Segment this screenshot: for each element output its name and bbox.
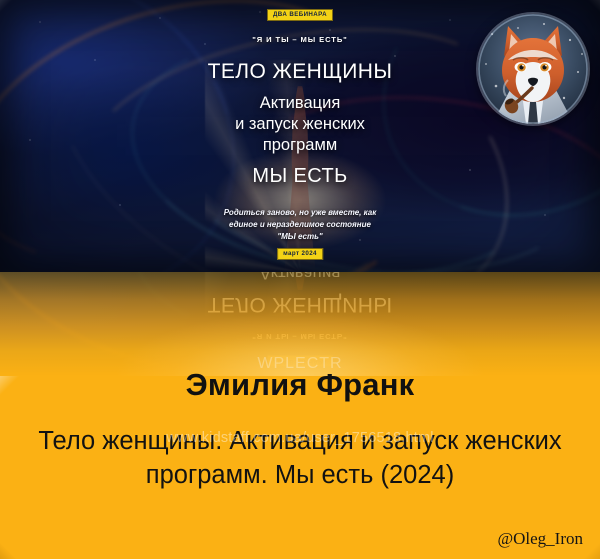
banner-kicker: "Я И ТЫ – МЫ ЕСТЬ" bbox=[252, 35, 347, 44]
banner-title-we-are: МЫ ЕСТЬ bbox=[252, 165, 347, 188]
author-name: Эмилия Франк bbox=[0, 367, 600, 403]
banner-tagline-line-1: Родиться заново, но уже вместе, как bbox=[224, 207, 377, 219]
banner-subtitle-line-1: Активация bbox=[235, 93, 365, 114]
banner-subtitle-line-2: и запуск женских bbox=[235, 114, 365, 135]
avatar bbox=[478, 14, 588, 124]
reflection-glow bbox=[0, 272, 600, 376]
badge-two-webinars: ДВА ВЕБИНАРА bbox=[267, 9, 333, 21]
book-title: Тело женщины. Активация и запуск женских… bbox=[22, 425, 578, 493]
banner-subtitle: Активация и запуск женских программ bbox=[235, 93, 365, 156]
webinar-banner: ДВА ВЕБИНАРА "Я И ТЫ – МЫ ЕСТЬ" ТЕЛО ЖЕН… bbox=[0, 0, 600, 272]
promo-image: ДВА ВЕБИНАРА "Я И ТЫ – МЫ ЕСТЬ" ТЕЛО ЖЕН… bbox=[0, 0, 600, 559]
banner-tagline-line-3: "МЫ есть" bbox=[224, 231, 377, 243]
banner-tagline: Родиться заново, но уже вместе, как един… bbox=[224, 207, 377, 243]
banner-tagline-line-2: единое и неразделимое состояние bbox=[224, 219, 377, 231]
banner-subtitle-line-3: программ bbox=[235, 135, 365, 156]
fox-avatar-icon bbox=[478, 14, 588, 124]
banner-title: ТЕЛО ЖЕНЩИНЫ bbox=[208, 60, 393, 84]
seller-handle: @Oleg_Iron bbox=[497, 529, 583, 549]
badge-date: март 2024 bbox=[277, 248, 323, 260]
